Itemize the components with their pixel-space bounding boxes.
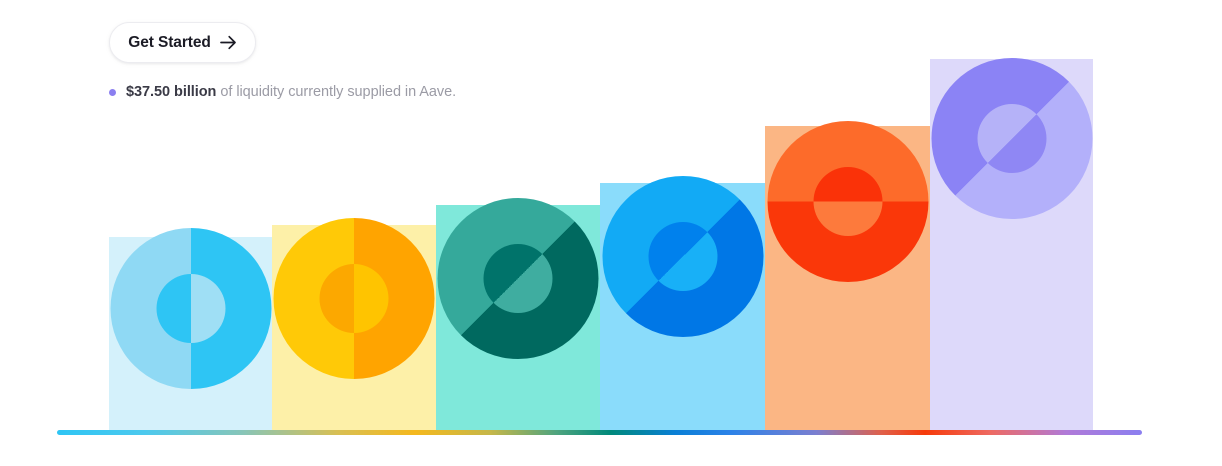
- chart-column-5[interactable]: [765, 121, 930, 432]
- donut-inner-circle-5: [813, 167, 882, 236]
- donut-inner-circle-1: [156, 274, 225, 343]
- chart-donut-4: [602, 176, 763, 337]
- donut-inner-split-1: [156, 274, 225, 343]
- chart-column-2[interactable]: [272, 218, 436, 432]
- chart-baseline-gradient: [57, 430, 1142, 435]
- chart-donut-1: [110, 228, 271, 389]
- donut-inner-split-2: [320, 264, 389, 333]
- chart-donut-6: [931, 58, 1092, 219]
- donut-outer-ring-2: [274, 218, 435, 379]
- donut-outer-ring-6: [898, 25, 1126, 253]
- donut-inner-split-5: [813, 167, 882, 236]
- donut-outer-ring-4: [569, 143, 797, 371]
- donut-outer-ring-1: [110, 228, 271, 389]
- chart-column-3[interactable]: [436, 198, 600, 432]
- donut-inner-circle-2: [320, 264, 389, 333]
- chart-column-1[interactable]: [109, 228, 272, 432]
- chart-donut-2: [274, 218, 435, 379]
- liquidity-bar-chart: [0, 0, 1222, 466]
- chart-column-6[interactable]: [930, 58, 1093, 432]
- chart-donut-3: [438, 198, 599, 359]
- chart-column-4[interactable]: [600, 176, 765, 432]
